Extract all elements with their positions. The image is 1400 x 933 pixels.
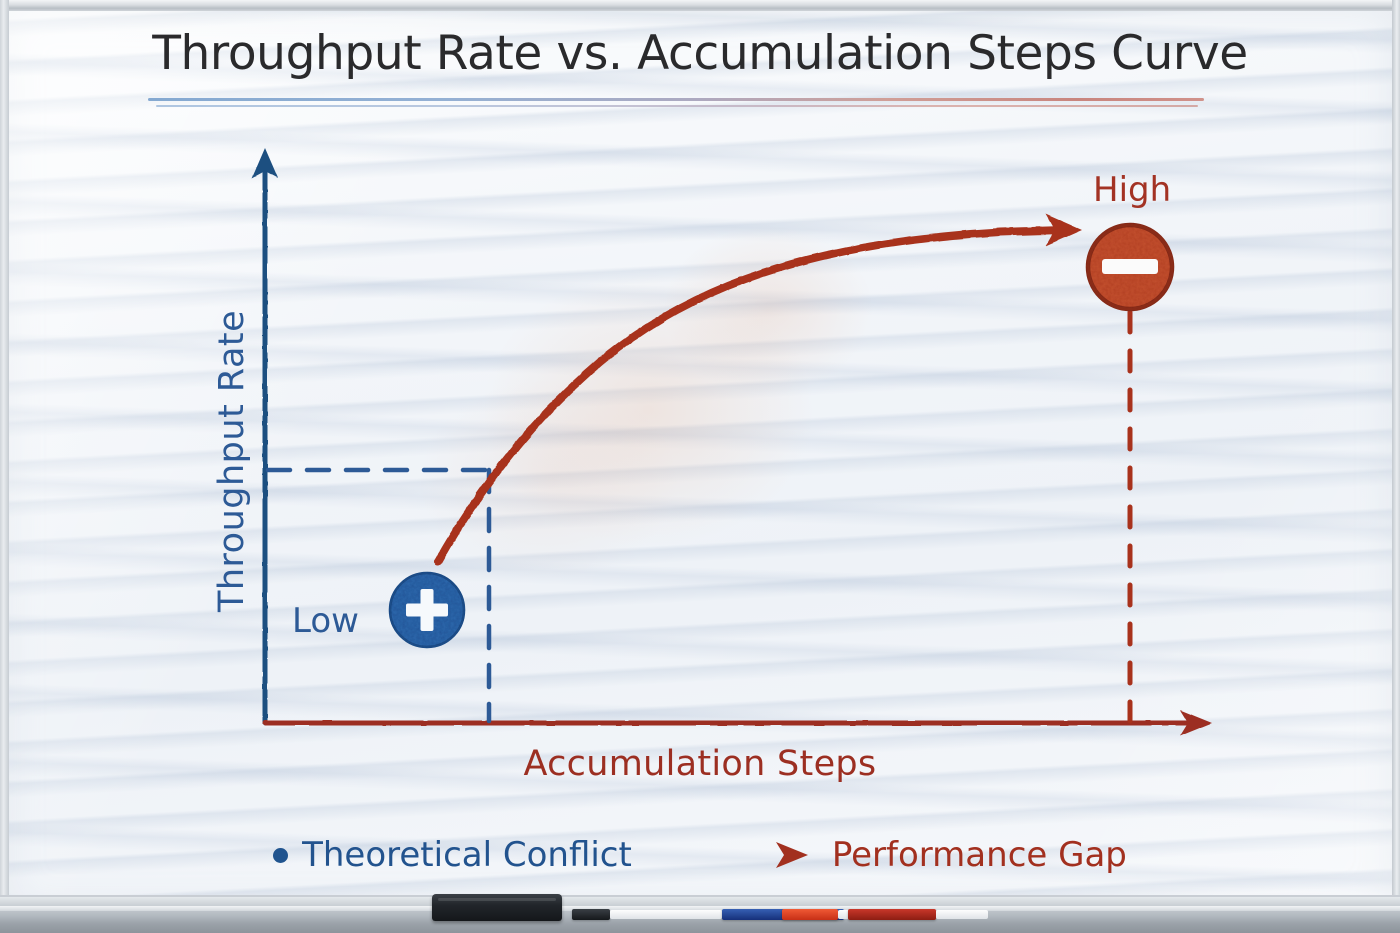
legend-bullet-icon [273, 848, 288, 863]
y-axis [252, 148, 278, 723]
black-marker[interactable] [572, 909, 610, 920]
dark-red-marker-body[interactable] [936, 910, 988, 919]
high-marker-label: High [1093, 170, 1171, 210]
red-marker-a[interactable] [782, 909, 838, 920]
black-marker-body[interactable] [610, 910, 722, 919]
marker-high[interactable] [1088, 225, 1172, 309]
x-axis-label: Accumulation Steps [0, 744, 1400, 784]
marker-low[interactable] [390, 573, 464, 647]
whiteboard-screenshot: Throughput Rate vs. Accumulation Steps C… [0, 0, 1400, 933]
chart-legend: Theoretical Conflict Performance Gap [0, 828, 1400, 882]
arrow-right-icon [648, 841, 816, 869]
chart-canvas [0, 0, 1400, 933]
x-axis [265, 710, 1212, 736]
low-marker-label: Low [292, 601, 359, 641]
y-axis-label: Throughput Rate [212, 310, 252, 612]
throughput-curve [438, 214, 1082, 562]
legend-label-theoretical-conflict: Theoretical Conflict [302, 835, 632, 875]
dark-red-marker[interactable] [848, 909, 936, 920]
minus-icon [1102, 259, 1158, 274]
whiteboard-eraser[interactable] [432, 894, 562, 921]
legend-label-performance-gap: Performance Gap [832, 835, 1127, 875]
